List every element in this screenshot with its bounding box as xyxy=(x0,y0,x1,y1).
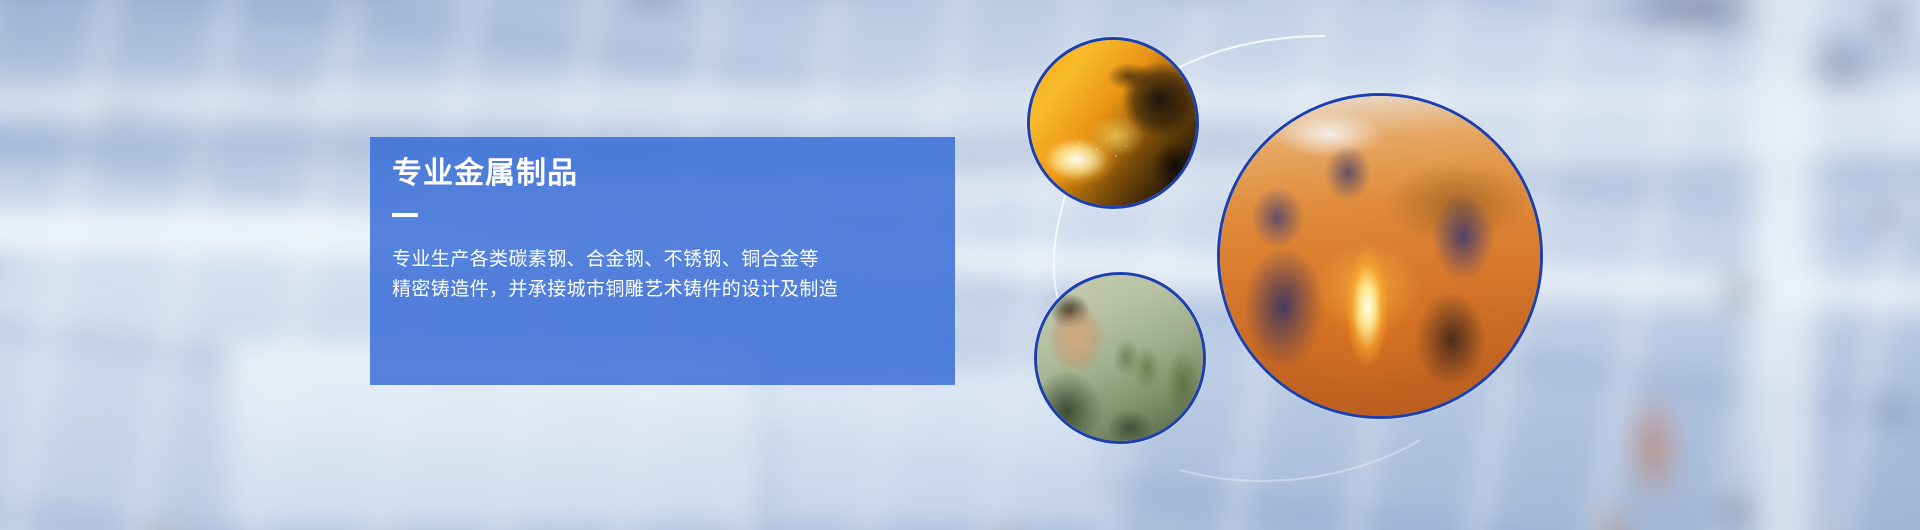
headline-panel: 专业金属制品 专业生产各类碳素钢、合金钢、不锈钢、铜合金等 精密铸造件，并承接城… xyxy=(370,137,955,385)
worker-assembly-image xyxy=(1037,275,1203,441)
photo-circle-worker-assembly xyxy=(1034,272,1206,444)
hero-banner: 专业金属制品 专业生产各类碳素钢、合金钢、不锈钢、铜合金等 精密铸造件，并承接城… xyxy=(0,0,1920,530)
description-line-1: 专业生产各类碳素钢、合金钢、不锈钢、铜合金等 xyxy=(392,244,945,275)
photo-circle-foundry-pour xyxy=(1217,93,1543,419)
background-blue-wash xyxy=(0,0,1920,530)
page-title: 专业金属制品 xyxy=(392,137,945,193)
foundry-pour-image xyxy=(1220,96,1540,416)
panel-description: 专业生产各类碳素钢、合金钢、不锈钢、铜合金等 精密铸造件，并承接城市铜雕艺术铸件… xyxy=(392,217,945,306)
background-factory-image xyxy=(0,0,1920,530)
photo-circle-welding-sparks xyxy=(1027,37,1199,209)
description-line-2: 精密铸造件，并承接城市铜雕艺术铸件的设计及制造 xyxy=(392,274,945,305)
headline-panel-content: 专业金属制品 专业生产各类碳素钢、合金钢、不锈钢、铜合金等 精密铸造件，并承接城… xyxy=(392,137,945,305)
welding-sparks-image xyxy=(1030,40,1196,206)
